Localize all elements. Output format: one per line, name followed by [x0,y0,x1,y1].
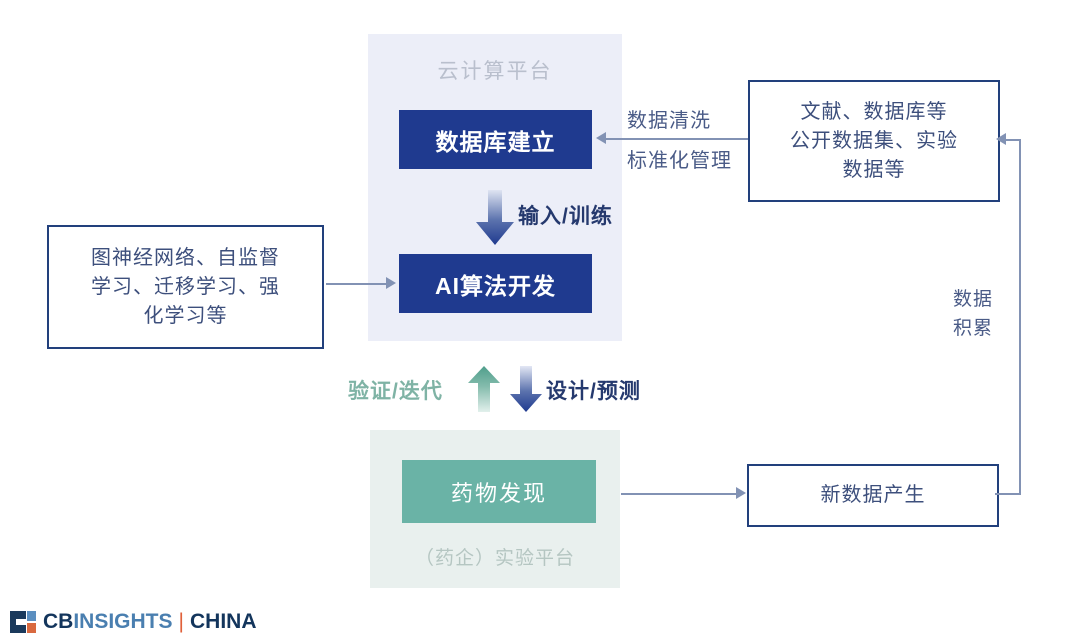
logo-wordmark: CBINSIGHTS|CHINA [43,610,257,634]
connector-feedback-into-sources [1006,139,1021,141]
label-design-prediction: 设计/预测 [546,375,641,405]
label-data-accumulation-line-2: 积累 [953,314,993,343]
arrowhead-discovery-to-newdata-icon [736,487,746,499]
connector-sources-to-database [606,138,748,140]
label-data-accumulation: 数据 积累 [953,285,993,344]
arrowhead-feedback-into-sources-icon [996,133,1006,145]
label-input-training: 输入/训练 [518,200,613,230]
diagram-canvas: 云计算平台 数据库建立 AI算法开发 图神经网络、自监督 学习、迁移学习、强 化… [0,0,1080,642]
label-data-cleaning: 数据清洗 [627,104,711,133]
data-sources-line-3: 数据等 [790,156,958,185]
connector-feedback-vertical [1019,140,1021,495]
ai-methods-line-2: 学习、迁移学习、强 [91,273,280,302]
label-data-accumulation-line-1: 数据 [953,285,993,314]
node-data-sources[interactable]: 文献、数据库等 公开数据集、实验 数据等 [748,80,1000,202]
node-ai-algorithm-development[interactable]: AI算法开发 [399,254,592,313]
lab-platform-caption: （药企）实验平台 [370,543,620,570]
logo-text-cb: CB [43,610,73,634]
cbinsights-china-logo: CBINSIGHTS|CHINA [10,610,257,634]
cbinsights-logo-mark-icon [10,611,36,633]
node-database-build[interactable]: 数据库建立 [399,110,592,169]
logo-text-separator: | [179,610,184,634]
connector-discovery-to-newdata [621,493,737,495]
data-sources-line-2: 公开数据集、实验 [790,127,958,156]
arrow-design-prediction-icon [508,365,544,413]
arrowhead-sources-to-database-icon [596,132,606,144]
arrowhead-methods-to-ai-icon [386,277,396,289]
logo-text-china: CHINA [190,610,257,634]
node-ai-methods[interactable]: 图神经网络、自监督 学习、迁移学习、强 化学习等 [47,225,324,349]
label-standardized-management: 标准化管理 [627,144,732,173]
connector-newdata-right-stub [995,493,1021,495]
connector-methods-to-ai [326,283,386,285]
ai-methods-line-3: 化学习等 [91,302,280,331]
logo-text-insights: INSIGHTS [73,610,172,634]
ai-methods-line-1: 图神经网络、自监督 [91,244,280,273]
arrow-input-training-icon [473,190,517,246]
data-sources-line-1: 文献、数据库等 [790,98,958,127]
node-new-data-generated[interactable]: 新数据产生 [747,464,999,527]
cloud-platform-title: 云计算平台 [368,55,622,85]
label-validation-iteration: 验证/迭代 [348,375,443,405]
node-drug-discovery[interactable]: 药物发现 [402,460,596,523]
arrow-validation-iteration-icon [466,365,502,413]
